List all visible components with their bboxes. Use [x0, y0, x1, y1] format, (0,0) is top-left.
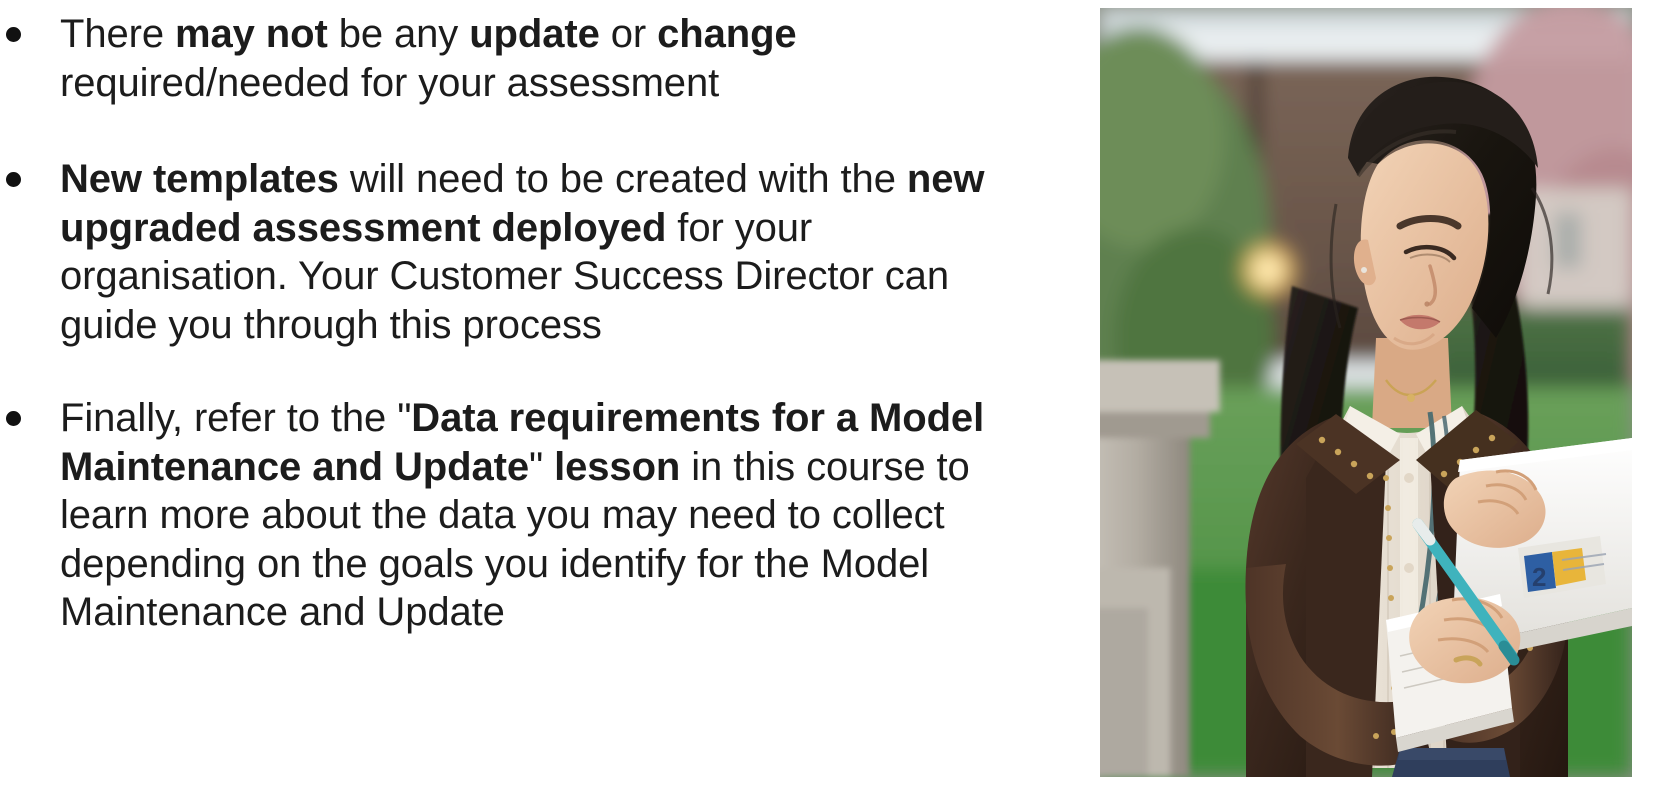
list-item: There may not be any update or change re…: [0, 10, 1040, 107]
photo-illustration: 2: [1100, 8, 1632, 777]
list-item: New templates will need to be created wi…: [0, 155, 1040, 349]
bullet-dot-icon: [6, 172, 21, 187]
bullet-text: New templates will need to be created wi…: [60, 155, 1035, 349]
bullet-dot-icon: [6, 27, 21, 42]
bullet-text: There may not be any update or change re…: [60, 10, 1035, 107]
bullet-text-column: There may not be any update or change re…: [0, 0, 1040, 789]
bullet-text: Finally, refer to the "Data requirements…: [60, 394, 1035, 637]
bullet-dot-icon: [6, 411, 21, 426]
bullet-list: There may not be any update or change re…: [0, 10, 1040, 637]
list-item: Finally, refer to the "Data requirements…: [0, 394, 1040, 637]
svg-text:2: 2: [1532, 562, 1546, 592]
photo-woman-writing-notes: 2: [1100, 8, 1632, 777]
slide-canvas: There may not be any update or change re…: [0, 0, 1668, 789]
